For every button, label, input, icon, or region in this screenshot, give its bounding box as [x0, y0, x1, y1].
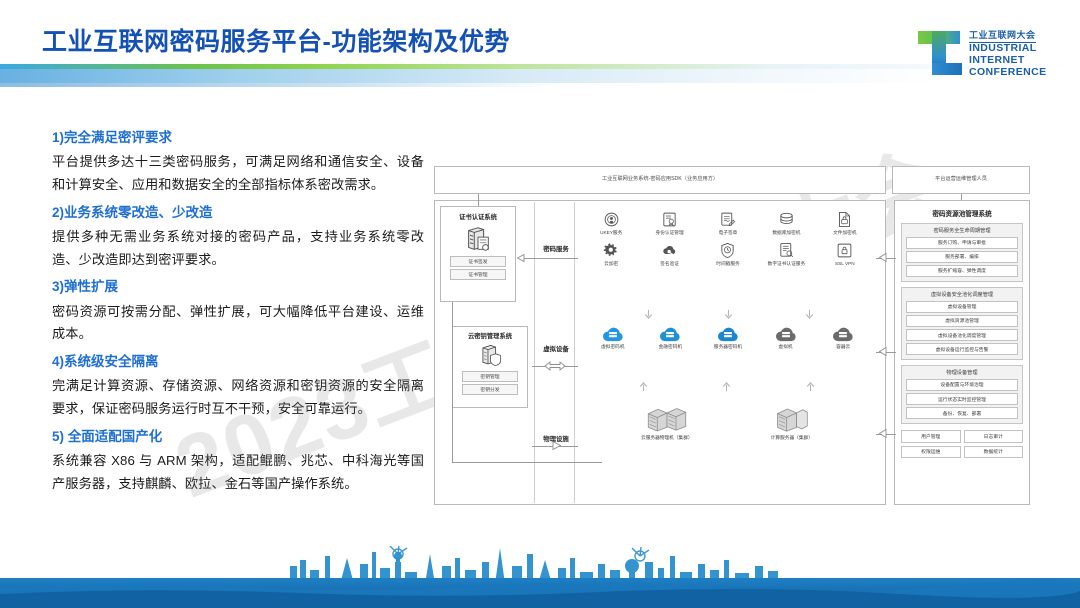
connector-bottom-horizontal — [452, 462, 602, 463]
advantage-body-1: 平台提供多达十三类密码服务，可满足网络和通信安全、设备和计算安全、应用和数据安全… — [52, 151, 424, 196]
footer-wave-graphic — [0, 578, 1080, 608]
management-item[interactable]: 虚拟设备管理 — [906, 301, 1018, 313]
connector-ca-to-service — [522, 258, 578, 259]
management-group-physical: 物理设备管理 设备配置与环境治理 运行状态实时监控管理 备份、恢复、部署 — [901, 365, 1023, 424]
resource-management-title: 密码资源池管理系统 — [895, 208, 1029, 218]
advantage-heading-3: 3)弹性扩展 — [52, 277, 424, 297]
conference-logo-icon — [916, 27, 962, 77]
service-item[interactable]: 云加密 — [582, 242, 640, 268]
cloud-server-icon — [775, 326, 797, 342]
resource-management-panel: 密码资源池管理系统 密码服务全生命周期管理 服务订购、申请与审批 服务部署、编排… — [894, 200, 1030, 505]
management-item[interactable]: 日志审计 — [964, 430, 1024, 442]
management-item[interactable]: 备份、恢复、部署 — [906, 407, 1018, 419]
virtual-device-item[interactable]: 容器云 — [814, 326, 872, 350]
virtual-device-label: 虚拟密码机 — [601, 344, 624, 350]
management-group-title: 物理设备管理 — [906, 369, 1018, 376]
chevron-down-icon — [643, 308, 654, 321]
crypto-service-grid: UKEY服务 身份认证管理 电子签章 — [582, 210, 874, 267]
ca-button-manage[interactable]: 证书管理 — [450, 269, 506, 280]
key-management-card: 云密钥管理系统 密钥管理 密钥分发 — [452, 326, 528, 408]
service-label: SSL VPN — [835, 261, 855, 266]
header-accent-rule-secondary — [0, 69, 940, 83]
key-button-manage[interactable]: 密钥管理 — [462, 371, 518, 382]
service-label: 数字证书认证服务 — [768, 261, 806, 267]
conference-logo: 工业互联网大会 INDUSTRIAL INTERNET CONFERENCE — [916, 24, 1062, 80]
header-accent-rule-tertiary — [0, 83, 560, 87]
service-item[interactable]: 签名验证 — [640, 242, 698, 268]
layer-label-virtual: 虚拟设备 — [536, 344, 576, 353]
ukey-icon — [602, 210, 620, 228]
file-lock-icon — [836, 210, 854, 228]
arrow-left-icon — [878, 252, 887, 263]
logo-text-line3: CONFERENCE — [969, 67, 1047, 79]
management-item[interactable]: 用户管理 — [901, 430, 961, 442]
cert-badge-icon — [661, 210, 679, 228]
service-item[interactable]: 时间戳服务 — [699, 242, 757, 268]
management-flat-items: 用户管理 日志审计 权限运维 数据统计 — [901, 430, 1023, 457]
service-label: 身份认证管理 — [656, 230, 684, 236]
management-item[interactable]: 服务部署、编排 — [906, 251, 1018, 263]
advantage-heading-4: 4)系统级安全隔离 — [52, 352, 424, 372]
ca-system-title: 证书认证系统 — [441, 212, 515, 221]
physical-infra-label: 计算服务器（集群） — [771, 435, 813, 441]
server-shield-icon — [477, 342, 504, 369]
arrow-left-right-icon — [544, 360, 566, 372]
service-label: 云加密 — [604, 261, 618, 267]
chevron-down-icon — [804, 308, 815, 321]
consumer-business-system-label: 工业互联网业务系统-密码应用SDK（业务应用方） — [602, 176, 718, 183]
consumer-business-system: 工业互联网业务系统-密码应用SDK（业务应用方） — [434, 166, 886, 194]
advantage-heading-5: 5) 全面适配国产化 — [52, 427, 424, 447]
management-item[interactable]: 运行状态实时监控管理 — [906, 393, 1018, 405]
physical-infra-item[interactable]: 云服务器物理机（集群） — [641, 406, 693, 441]
connector-consumer-to-ca — [478, 194, 479, 206]
virtual-device-label: 金融密码机 — [659, 344, 682, 350]
management-group-lifecycle: 密码服务全生命周期管理 服务订购、申请与审批 服务部署、编排 服务扩缩容、弹性调… — [901, 223, 1023, 282]
management-item[interactable]: 权限运维 — [901, 446, 961, 458]
gears-icon — [602, 242, 620, 260]
physical-infra-grid: 云服务器物理机（集群） 计算服务器（集群） — [602, 406, 852, 441]
cloud-key-icon — [661, 242, 679, 260]
ca-button-issue[interactable]: 证书签发 — [450, 256, 506, 267]
service-item[interactable]: 数据库加密机 — [757, 210, 815, 236]
cloud-server-icon — [717, 326, 739, 342]
timestamp-shield-icon — [719, 242, 737, 260]
ca-system-card: 证书认证系统 证书签发 证书管理 — [440, 206, 516, 302]
layer-label-service: 密码服务 — [538, 244, 574, 253]
service-item[interactable]: 数字证书认证服务 — [757, 242, 815, 268]
key-management-title: 云密钥管理系统 — [453, 331, 527, 340]
service-item[interactable]: UKEY服务 — [582, 210, 640, 236]
management-group-title: 虚拟设备安全池化调度管理 — [906, 291, 1018, 298]
virtual-device-item[interactable]: 虚拟密码机 — [584, 326, 642, 350]
virtual-device-label: 容器云 — [836, 344, 850, 350]
arrow-right-icon — [552, 440, 562, 451]
service-item[interactable]: 电子签章 — [699, 210, 757, 236]
cloud-server-icon — [602, 326, 624, 342]
cert-doc-icon — [777, 242, 795, 260]
advantage-body-5: 系统兼容 X86 与 ARM 架构，适配鲲鹏、兆芯、中科海光等国产服务器，支持麒… — [52, 450, 424, 495]
management-item[interactable]: 虚拟资源池管理 — [906, 315, 1018, 327]
virtual-device-item[interactable]: 服务器密码机 — [699, 326, 757, 350]
management-group-virtual: 虚拟设备安全池化调度管理 虚拟设备管理 虚拟资源池管理 虚拟设备池化调度管理 虚… — [901, 287, 1023, 360]
frame-divider-left — [534, 202, 535, 503]
service-to-virtual-arrows — [608, 308, 850, 321]
server-rack-icon — [646, 406, 688, 432]
signature-icon — [719, 210, 737, 228]
chevron-up-icon — [638, 380, 649, 393]
management-item[interactable]: 服务扩缩容、弹性调度 — [906, 265, 1018, 277]
physical-infra-label: 云服务器物理机（集群） — [641, 435, 693, 441]
virtual-device-label: 服务器密码机 — [714, 344, 742, 350]
cloud-server-icon — [832, 326, 854, 342]
arrow-left-icon — [878, 346, 887, 357]
advantages-list: 1)完全满足密评要求 平台提供多达十三类密码服务，可满足网络和通信安全、设备和计… — [52, 128, 424, 495]
server-cert-icon — [463, 224, 493, 254]
chevron-up-icon — [805, 380, 816, 393]
management-item[interactable]: 设备配置与环境治理 — [906, 379, 1018, 391]
advantage-body-4: 完满足计算资源、存储资源、网络资源和密钥资源的安全隔离要求，保证密码服务运行时互… — [52, 375, 424, 420]
architecture-diagram: 工业互联网业务系统-密码应用SDK（业务应用方） 平台运营运维管理人员 证书认证… — [432, 166, 1032, 506]
consumer-operators: 平台运营运维管理人员 — [892, 166, 1030, 194]
physical-to-virtual-arrows — [602, 380, 852, 393]
service-item[interactable]: 身份认证管理 — [640, 210, 698, 236]
logo-text-cn: 工业互联网大会 — [969, 30, 1036, 42]
page-title: 工业互联网密码服务平台-功能架构及优势 — [42, 22, 510, 58]
key-button-distribute[interactable]: 密钥分发 — [462, 384, 518, 395]
service-label: 签名验证 — [660, 261, 679, 267]
page-footer — [0, 546, 1080, 608]
ssl-lock-icon — [836, 242, 854, 260]
management-group-title: 密码服务全生命周期管理 — [906, 227, 1018, 234]
service-label: UKEY服务 — [600, 230, 622, 236]
connector-operator-to-mgmt — [961, 194, 962, 200]
management-item[interactable]: 虚拟设备运行监控与告警 — [906, 343, 1018, 355]
advantage-heading-2: 2)业务系统零改造、少改造 — [52, 203, 424, 223]
chevron-up-icon — [721, 380, 732, 393]
service-item[interactable]: 文件加密机 — [816, 210, 874, 236]
database-icon — [777, 210, 795, 228]
virtual-device-item[interactable]: 虚拟机 — [757, 326, 815, 350]
advantage-body-2: 提供多种无需业务系统对接的密码产品，支持业务系统零改造、少改造即达到密评要求。 — [52, 226, 424, 271]
virtual-device-item[interactable]: 金融密码机 — [642, 326, 700, 350]
consumer-operators-label: 平台运营运维管理人员 — [935, 176, 987, 183]
virtual-device-grid: 虚拟密码机 金融密码机 服务器密码机 虚拟机 — [584, 326, 872, 350]
server-rack-icon — [775, 406, 809, 432]
chevron-down-icon — [723, 308, 734, 321]
advantage-body-3: 密码资源可按需分配、弹性扩展，可大幅降低平台建设、运维成本。 — [52, 301, 424, 346]
arrow-left-icon — [878, 428, 887, 439]
management-item[interactable]: 虚拟设备池化调度管理 — [906, 329, 1018, 341]
service-label: 文件加密机 — [833, 230, 856, 236]
cloud-server-icon — [659, 326, 681, 342]
service-label: 电子签章 — [719, 230, 738, 236]
service-label: 时间戳服务 — [716, 261, 739, 267]
arrow-left-icon — [516, 253, 525, 263]
connector-ca-vertical — [452, 302, 453, 462]
management-item[interactable]: 数据统计 — [964, 446, 1024, 458]
virtual-device-label: 虚拟机 — [779, 344, 793, 350]
service-item[interactable]: SSL VPN — [816, 242, 874, 268]
service-label: 数据库加密机 — [772, 230, 800, 236]
physical-infra-item[interactable]: 计算服务器（集群） — [771, 406, 813, 441]
advantage-heading-1: 1)完全满足密评要求 — [52, 128, 424, 148]
page-header: 工业互联网密码服务平台-功能架构及优势 工业互联网大会 INDUSTRIAL I… — [0, 0, 1080, 92]
management-item[interactable]: 服务订购、申请与审批 — [906, 237, 1018, 249]
